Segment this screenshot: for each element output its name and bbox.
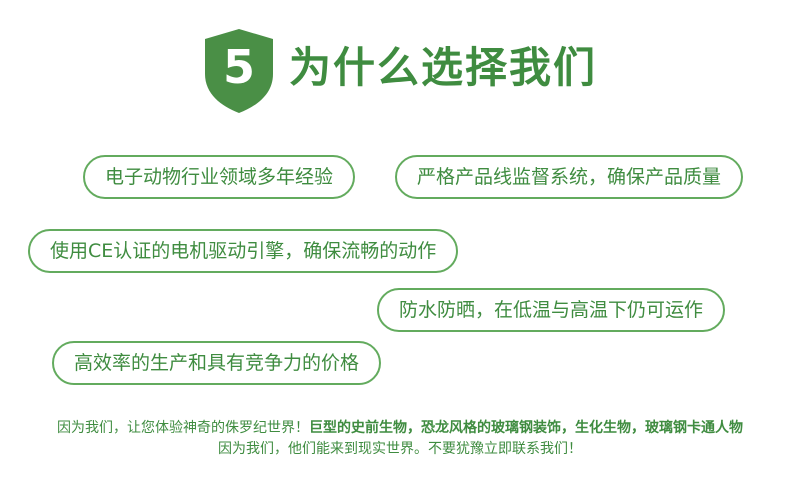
feature-pill-3: 使用CE认证的电机驱动引擎，确保流畅的动作 (28, 229, 458, 273)
footer-line-1-prefix: 因为我们，让您体验神奇的侏罗纪世界！ (57, 420, 309, 436)
footer-line-2: 因为我们，他们能来到现实世界。不要犹豫立即联系我们！ (0, 439, 800, 460)
footer-line-1: 因为我们，让您体验神奇的侏罗纪世界！巨型的史前生物，恐龙风格的玻璃钢装饰，生化生… (0, 418, 800, 439)
shield-icon: 5 (203, 28, 275, 114)
promo-banner: 5 为什么选择我们 电子动物行业领域多年经验 严格产品线监督系统，确保产品质量 … (0, 0, 800, 485)
footer-line-1-highlight: 巨型的史前生物，恐龙风格的玻璃钢装饰，生化生物，玻璃钢卡通人物 (309, 420, 743, 436)
header: 5 为什么选择我们 (0, 28, 800, 114)
feature-pill-1: 电子动物行业领域多年经验 (83, 155, 355, 199)
feature-pill-5: 高效率的生产和具有竞争力的价格 (52, 341, 381, 385)
badge-number: 5 (203, 28, 275, 106)
page-title: 为什么选择我们 (289, 47, 597, 95)
feature-pill-2: 严格产品线监督系统，确保产品质量 (395, 155, 743, 199)
footer: 因为我们，让您体验神奇的侏罗纪世界！巨型的史前生物，恐龙风格的玻璃钢装饰，生化生… (0, 418, 800, 460)
feature-pill-4: 防水防晒，在低温与高温下仍可运作 (377, 288, 725, 332)
